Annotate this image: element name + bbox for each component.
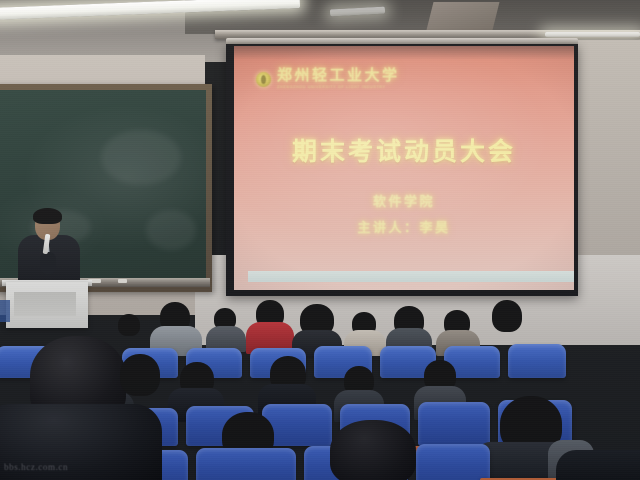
fluorescent-light-icon <box>545 32 640 37</box>
watermark: bbs.hcz.com.cn <box>4 462 68 472</box>
seat <box>508 344 566 378</box>
projection-screen: 郑州轻工业大学 ZHENGZHOU UNIVERSITY OF LIGHT IN… <box>234 46 574 290</box>
chalk-smudge <box>146 210 196 250</box>
screen-vignette <box>234 46 574 290</box>
seat <box>418 402 490 446</box>
foreground-head <box>120 354 160 396</box>
seat <box>416 444 490 480</box>
lecture-hall-photo: 郑州轻工业大学 ZHENGZHOU UNIVERSITY OF LIGHT IN… <box>0 0 640 480</box>
foreground-body <box>556 450 640 480</box>
presenter-hair <box>33 208 62 224</box>
slide-bottom-band <box>248 271 574 282</box>
seat <box>196 448 296 480</box>
audience-head <box>118 314 140 336</box>
chalk-piece-icon <box>118 279 127 283</box>
audience-area <box>0 300 640 480</box>
ceiling-panel <box>427 2 500 30</box>
chalk-smudge <box>101 130 181 185</box>
foreground-head <box>330 420 416 480</box>
presenter-arm <box>40 252 56 274</box>
audience-head <box>492 300 522 332</box>
